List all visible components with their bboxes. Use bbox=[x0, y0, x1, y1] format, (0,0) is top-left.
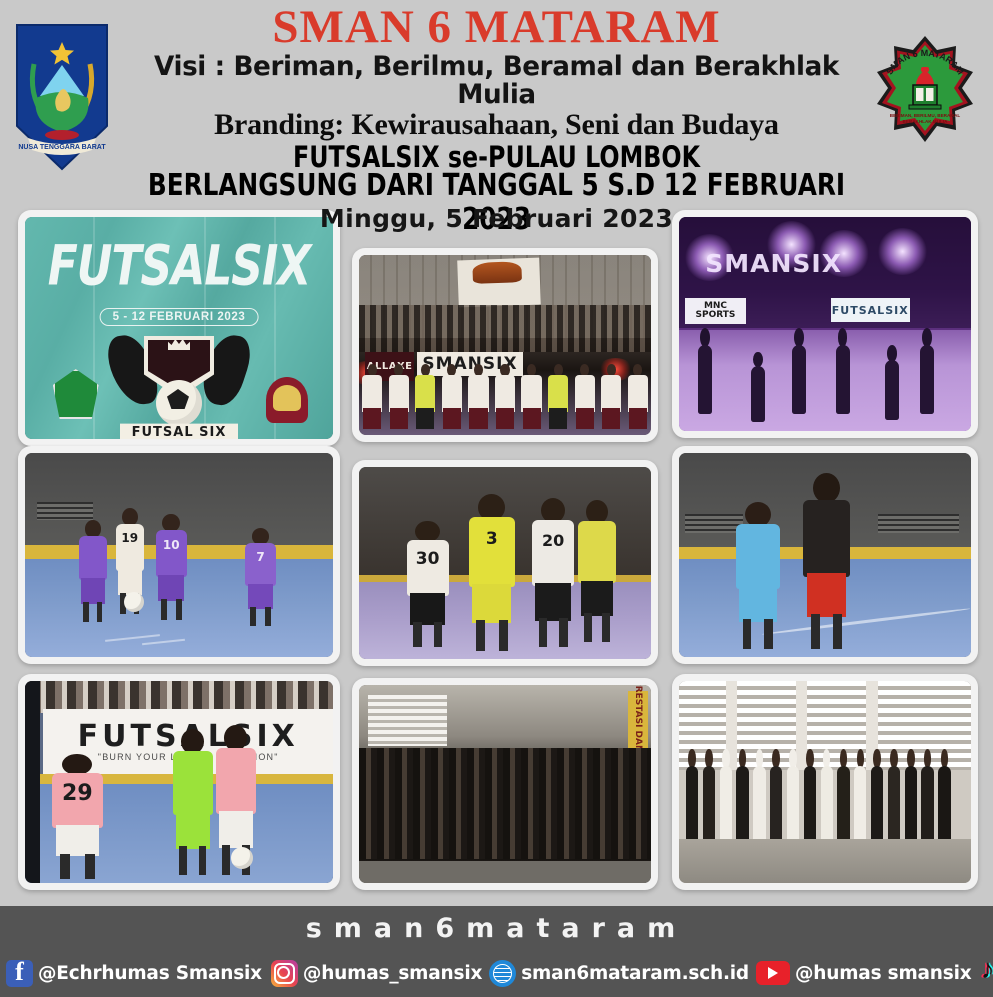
photo-match-purple-white: 19 10 7 bbox=[25, 453, 333, 657]
header-text-block: SMAN 6 MATARAM Visi : Beriman, Berilmu, … bbox=[110, 4, 883, 227]
player-lightblue bbox=[729, 502, 787, 649]
photo-card-banner-futsalsix[interactable]: FUTSALSIX 5 - 12 FEBRUARI 2023 FUTSAL SI… bbox=[18, 210, 340, 446]
photo-card-team-lineup[interactable]: ALLAXE SMANSIX bbox=[352, 248, 658, 442]
social-link-website[interactable]: sman6mataram.sch.id bbox=[489, 960, 749, 987]
date-caption: Minggu, 5 Februari 2023 bbox=[0, 204, 993, 233]
website-globe-icon[interactable] bbox=[489, 960, 516, 987]
player-yellow-2 bbox=[572, 500, 622, 642]
poster-footer: sman6mataram @Echrhumas Smansix @humas_s… bbox=[0, 906, 993, 997]
sponsor-logo-small-icon bbox=[266, 377, 308, 423]
banner-futsalsix: FUTSALSIX bbox=[831, 298, 910, 322]
photo-card-match-yellow-white[interactable]: 30 3 20 bbox=[352, 460, 658, 666]
svg-text:BERIMAN, BERILMU, BERAMAL: BERIMAN, BERILMU, BERAMAL bbox=[890, 113, 961, 118]
photo-frame: FUTSALSIX 5 - 12 FEBRUARI 2023 FUTSAL SI… bbox=[18, 210, 340, 446]
school-branding: Branding: Kewirausahaan, Seni dan Budaya bbox=[110, 109, 883, 140]
photo-frame: SMANSIX MNC SPORTS FUTSALSIX bbox=[672, 210, 978, 438]
photo-banner-futsalsix: FUTSALSIX 5 - 12 FEBRUARI 2023 FUTSAL SI… bbox=[25, 217, 333, 439]
instagram-handle: @humas_smansix bbox=[303, 963, 482, 984]
player-purple-7: 7 bbox=[241, 528, 281, 626]
website-url: sman6mataram.sch.id bbox=[521, 963, 749, 984]
svg-text:BERAKHLAK MULIA: BERAKHLAK MULIA bbox=[903, 119, 949, 124]
player-purple-10: 10 bbox=[151, 514, 191, 620]
social-link-instagram[interactable]: @humas_smansix bbox=[271, 960, 482, 987]
photo-team-lineup: ALLAXE SMANSIX bbox=[359, 255, 651, 435]
social-link-facebook[interactable]: @Echrhumas Smansix bbox=[6, 960, 262, 987]
photo-match-yellow-white: 30 3 20 bbox=[359, 467, 651, 659]
player-purple-1 bbox=[74, 520, 111, 622]
youtube-handle: @humas smansix bbox=[795, 963, 971, 984]
poster-header: NUSA TENGGARA BARAT SMAN 6 MATARAM Visi … bbox=[0, 0, 993, 200]
photo-frame: 19 10 7 bbox=[18, 446, 340, 664]
wall-text-smansix: SMANSIX bbox=[705, 249, 842, 278]
futsal-crest-icon: FUTSAL SIX bbox=[114, 328, 244, 433]
instagram-icon[interactable] bbox=[271, 960, 298, 987]
photo-card-crowd-bleachers[interactable] bbox=[672, 674, 978, 890]
player-red-black bbox=[796, 473, 857, 648]
social-links-row: @Echrhumas Smansix @humas_smansix sman6m… bbox=[6, 955, 989, 991]
photo-card-dance-performance[interactable]: SMANSIX MNC SPORTS FUTSALSIX bbox=[672, 210, 978, 438]
photo-grid: FUTSALSIX 5 - 12 FEBRUARI 2023 FUTSAL SI… bbox=[0, 196, 993, 906]
banner-title: FUTSALSIX bbox=[25, 235, 333, 299]
page-title: SMAN 6 MATARAM bbox=[110, 4, 883, 52]
photo-frame bbox=[672, 446, 978, 664]
photo-match-blue-red bbox=[679, 453, 971, 657]
photo-card-match-purple-white[interactable]: 19 10 7 bbox=[18, 446, 340, 664]
player-white-30: 30 bbox=[400, 521, 455, 648]
social-link-youtube[interactable]: @humas smansix bbox=[756, 961, 971, 985]
photo-crowd-dark: PRESTASI DAN REMAJA bbox=[359, 685, 651, 883]
photo-frame: 30 3 20 bbox=[352, 460, 658, 666]
school-vision: Visi : Beriman, Berilmu, Beramal dan Ber… bbox=[114, 53, 879, 109]
player-yellow-3: 3 bbox=[461, 494, 522, 651]
social-link-tiktok[interactable]: @sman6mataram bbox=[974, 960, 993, 987]
photo-frame bbox=[672, 674, 978, 890]
photo-card-match-backdrop[interactable]: FUTSALSIX "BURN YOUR LIFE BE CHAMPION" 2… bbox=[18, 674, 340, 890]
sponsor-banner-mnc-sports: MNC SPORTS bbox=[685, 298, 746, 324]
photo-frame: ALLAXE SMANSIX bbox=[352, 248, 658, 442]
photo-frame: PRESTASI DAN REMAJA bbox=[352, 678, 658, 890]
footer-brand: sman6mataram bbox=[0, 913, 993, 944]
nusa-tenggara-barat-emblem-icon: NUSA TENGGARA BARAT bbox=[14, 22, 110, 172]
sman6-mataram-logo-icon: SMAN 6 MATARAM BERIMAN, BERILMU, BERAMAL… bbox=[869, 34, 981, 146]
photo-dance-performance: SMANSIX MNC SPORTS FUTSALSIX bbox=[679, 217, 971, 431]
svg-text:NUSA TENGGARA BARAT: NUSA TENGGARA BARAT bbox=[18, 144, 106, 151]
photo-card-match-blue-red[interactable] bbox=[672, 446, 978, 664]
futsal-ball-icon bbox=[124, 592, 144, 612]
facebook-handle: @Echrhumas Smansix bbox=[38, 963, 262, 984]
tiktok-icon[interactable] bbox=[974, 960, 993, 987]
photo-match-backdrop: FUTSALSIX "BURN YOUR LIFE BE CHAMPION" 2… bbox=[25, 681, 333, 883]
poster: NUSA TENGGARA BARAT SMAN 6 MATARAM Visi … bbox=[0, 0, 993, 997]
player-pink-29: 29 bbox=[43, 754, 111, 879]
photo-crowd-bleachers bbox=[679, 681, 971, 883]
photo-card-crowd-dark[interactable]: PRESTASI DAN REMAJA bbox=[352, 678, 658, 890]
facebook-icon[interactable] bbox=[6, 960, 33, 987]
futsal-ball-icon bbox=[231, 847, 253, 869]
youtube-icon[interactable] bbox=[756, 961, 790, 985]
photo-frame: FUTSALSIX "BURN YOUR LIFE BE CHAMPION" 2… bbox=[18, 674, 340, 890]
banner-date: 5 - 12 FEBRUARI 2023 bbox=[100, 308, 259, 326]
